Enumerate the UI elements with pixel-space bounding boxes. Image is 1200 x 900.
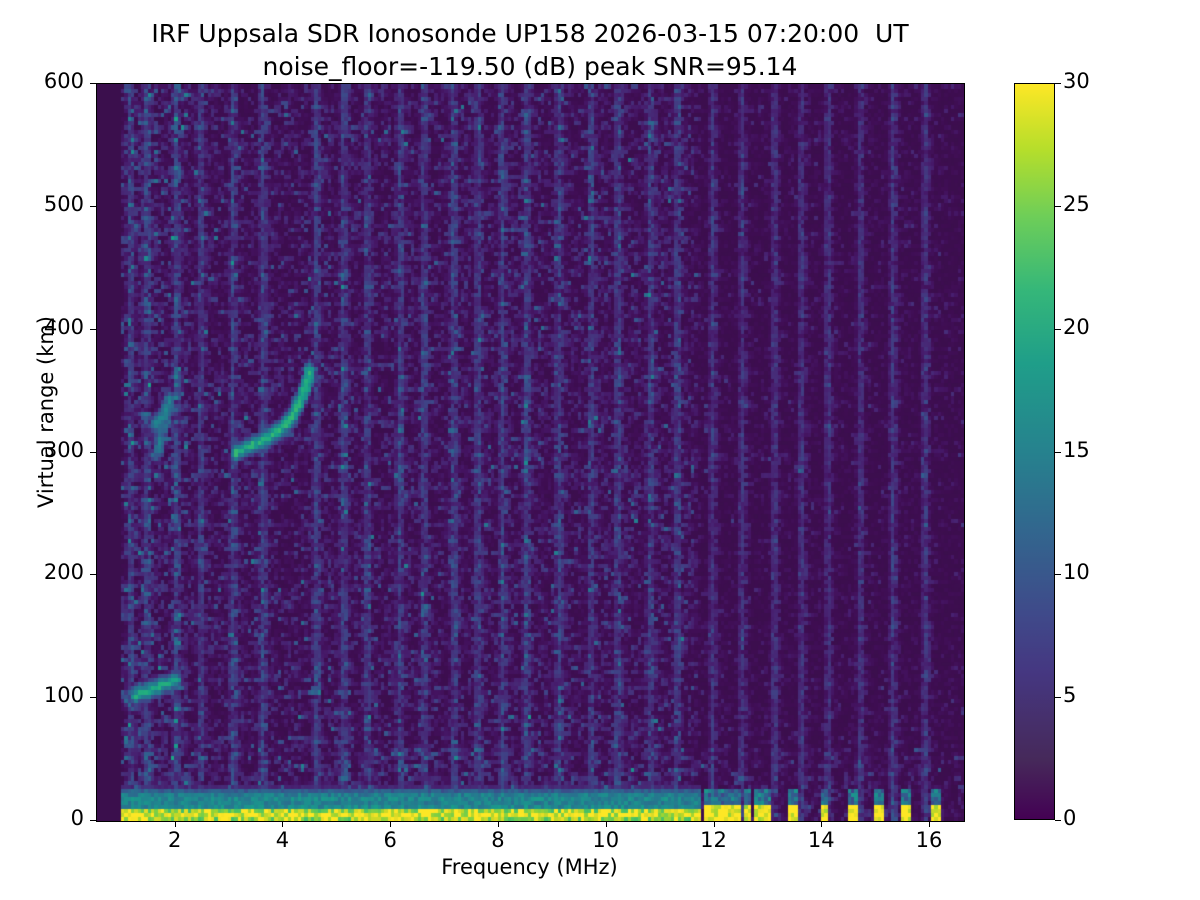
colorbar-tick-mark	[1055, 83, 1061, 84]
x-tick-mark	[390, 821, 391, 827]
y-tick-label: 0	[0, 806, 84, 830]
colorbar-tick-label: 30	[1063, 69, 1090, 93]
x-tick-label: 6	[350, 828, 430, 852]
colorbar-tick-mark	[1055, 206, 1061, 207]
title-line-2: noise_floor=-119.50 (dB) peak SNR=95.14	[0, 51, 1060, 84]
colorbar-tick-mark	[1055, 697, 1061, 698]
y-axis-label: Virtual range (km)	[34, 92, 58, 732]
y-tick-mark	[90, 574, 96, 575]
x-tick-label: 10	[566, 828, 646, 852]
colorbar-tick-mark	[1055, 452, 1061, 453]
x-tick-label: 8	[458, 828, 538, 852]
figure-title: IRF Uppsala SDR Ionosonde UP158 2026-03-…	[0, 18, 1060, 83]
x-tick-label: 12	[674, 828, 754, 852]
ionogram-axes[interactable]	[96, 83, 965, 822]
x-tick-mark	[282, 821, 283, 827]
x-tick-mark	[821, 821, 822, 827]
ionogram-heatmap[interactable]	[97, 84, 964, 821]
colorbar-tick-label: 20	[1063, 315, 1090, 339]
colorbar-tick-mark	[1055, 329, 1061, 330]
colorbar-tick-mark	[1055, 820, 1061, 821]
y-tick-mark	[90, 206, 96, 207]
title-line-1: IRF Uppsala SDR Ionosonde UP158 2026-03-…	[0, 18, 1060, 51]
ionogram-figure: IRF Uppsala SDR Ionosonde UP158 2026-03-…	[0, 0, 1200, 900]
colorbar-tick-label: 10	[1063, 560, 1090, 584]
y-tick-mark	[90, 329, 96, 330]
x-axis-label: Frequency (MHz)	[96, 855, 963, 879]
x-tick-label: 4	[242, 828, 322, 852]
y-tick-mark	[90, 452, 96, 453]
colorbar-tick-label: 5	[1063, 683, 1076, 707]
x-tick-label: 14	[781, 828, 861, 852]
colorbar-tick-label: 15	[1063, 438, 1090, 462]
x-tick-mark	[175, 821, 176, 827]
colorbar-tick-label: 25	[1063, 192, 1090, 216]
x-tick-mark	[929, 821, 930, 827]
colorbar-container[interactable]: 051015202530	[1014, 83, 1055, 820]
y-tick-mark	[90, 697, 96, 698]
colorbar-gradient[interactable]	[1014, 83, 1055, 820]
x-tick-mark	[606, 821, 607, 827]
y-tick-mark	[90, 83, 96, 84]
x-tick-mark	[714, 821, 715, 827]
y-tick-mark	[90, 820, 96, 821]
x-tick-label: 16	[889, 828, 969, 852]
colorbar-tick-label: 0	[1063, 806, 1076, 830]
x-tick-label: 2	[135, 828, 215, 852]
x-tick-mark	[498, 821, 499, 827]
y-tick-label: 600	[0, 69, 84, 93]
colorbar-tick-mark	[1055, 574, 1061, 575]
